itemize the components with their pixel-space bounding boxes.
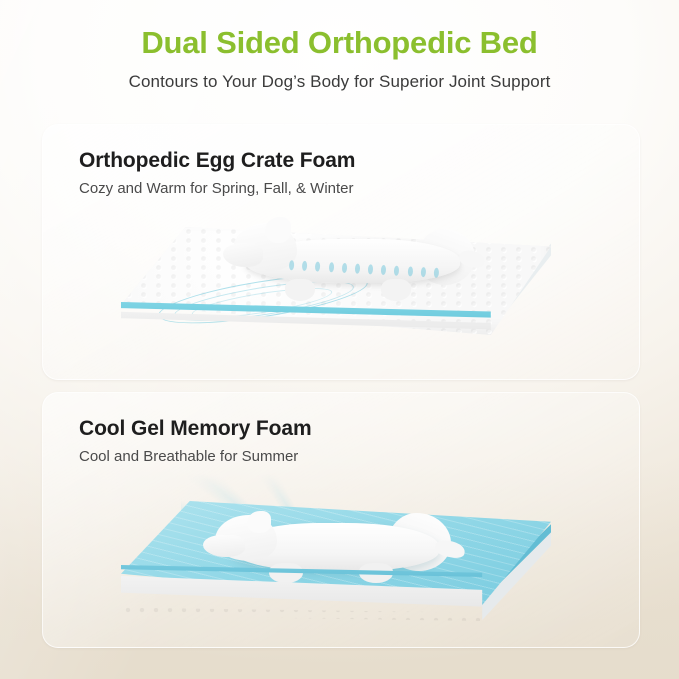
card-orthopedic-egg-crate-foam: Orthopedic Egg Crate Foam Cozy and Warm … — [42, 124, 640, 380]
header: Dual Sided Orthopedic Bed Contours to Yo… — [0, 26, 679, 92]
dog-rear-leg — [381, 279, 411, 301]
cool-gel-foam-illustration — [43, 393, 639, 647]
card-cool-gel-memory-foam: Cool Gel Memory Foam Cool and Breathable… — [42, 392, 640, 648]
page-title: Dual Sided Orthopedic Bed — [0, 26, 679, 60]
dog-ear — [265, 217, 291, 243]
dog-front-leg — [285, 279, 315, 301]
dog-snout — [203, 535, 245, 557]
slab-bottom-egg-crate-edge — [121, 605, 489, 621]
dog-imprint — [231, 213, 481, 309]
product-infographic: Dual Sided Orthopedic Bed Contours to Yo… — [0, 0, 679, 679]
egg-crate-foam-illustration — [43, 125, 639, 379]
dog-snout — [223, 243, 263, 267]
dog-ear — [247, 511, 271, 533]
egg-crate-slab — [121, 217, 551, 367]
gel-foam-slab — [121, 479, 551, 629]
page-subtitle: Contours to Your Dog’s Body for Superior… — [0, 72, 679, 92]
